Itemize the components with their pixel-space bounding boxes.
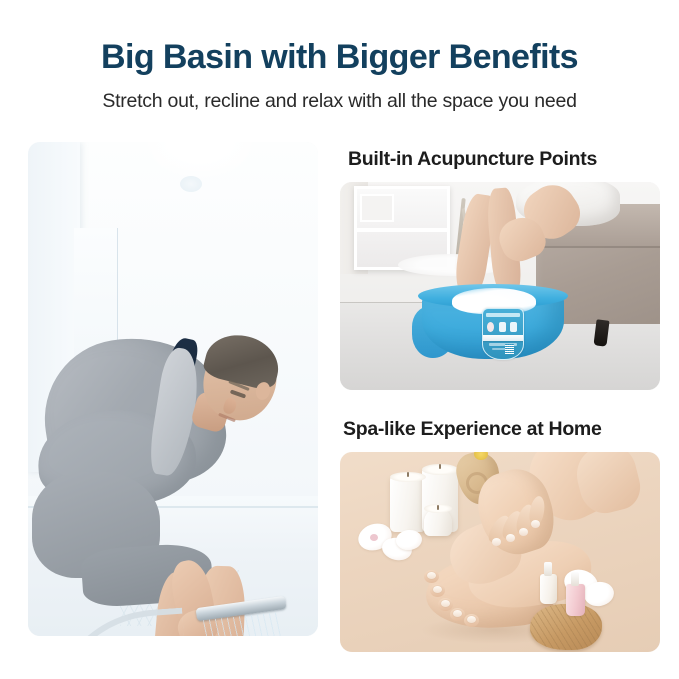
acupuncture-section-title: Built-in Acupuncture Points [348, 148, 597, 171]
badge-qr-code [505, 344, 514, 354]
candle-wick-3 [437, 505, 439, 510]
candle-small [390, 476, 426, 532]
fingernail-4 [531, 520, 540, 528]
shelf-divider [354, 228, 450, 232]
orchid-center [370, 534, 378, 541]
acupuncture-image-panel [340, 182, 660, 390]
spa-section-title: Spa-like Experience at Home [343, 418, 602, 441]
badge-icon-2 [499, 322, 506, 332]
badge-icon-3 [510, 322, 517, 332]
sofa-seam [536, 246, 660, 248]
badge-icon-1 [487, 322, 494, 332]
badge-top-text-line [486, 313, 520, 317]
man-in-bathrobe [28, 142, 318, 636]
toenail-2 [433, 586, 442, 593]
page-subtitle: Stretch out, recline and relax with all … [0, 90, 679, 113]
toenail-5 [467, 616, 476, 623]
shelf-storage-box [360, 194, 394, 222]
nail-polish-cap-2 [571, 572, 579, 586]
spa-scene [340, 452, 660, 652]
badge-band [482, 335, 524, 341]
candle-wick-1 [407, 472, 409, 477]
candle-wick-2 [439, 464, 441, 469]
fingernail-2 [506, 534, 515, 542]
spa-image-panel [340, 452, 660, 652]
fingernail-3 [519, 528, 528, 536]
basin-product-badge [482, 308, 524, 360]
fingernail-1 [492, 538, 501, 546]
nail-polish-cap-1 [544, 562, 552, 576]
living-room-scene [340, 182, 660, 390]
round-rug [398, 254, 506, 276]
hero-image-panel: AWA LAVENDER FOOT SOAK [28, 142, 318, 636]
toenail-4 [453, 610, 462, 617]
infographic-page: Big Basin with Bigger Benefits Stretch o… [0, 0, 679, 679]
nail-polish-bottle-white [540, 574, 557, 604]
toenail-3 [441, 600, 450, 607]
bathroom-scene: AWA LAVENDER FOOT SOAK [28, 142, 318, 636]
toenail-1 [427, 572, 436, 579]
page-title: Big Basin with Bigger Benefits [0, 38, 679, 77]
nail-polish-bottle-pink [566, 584, 585, 616]
